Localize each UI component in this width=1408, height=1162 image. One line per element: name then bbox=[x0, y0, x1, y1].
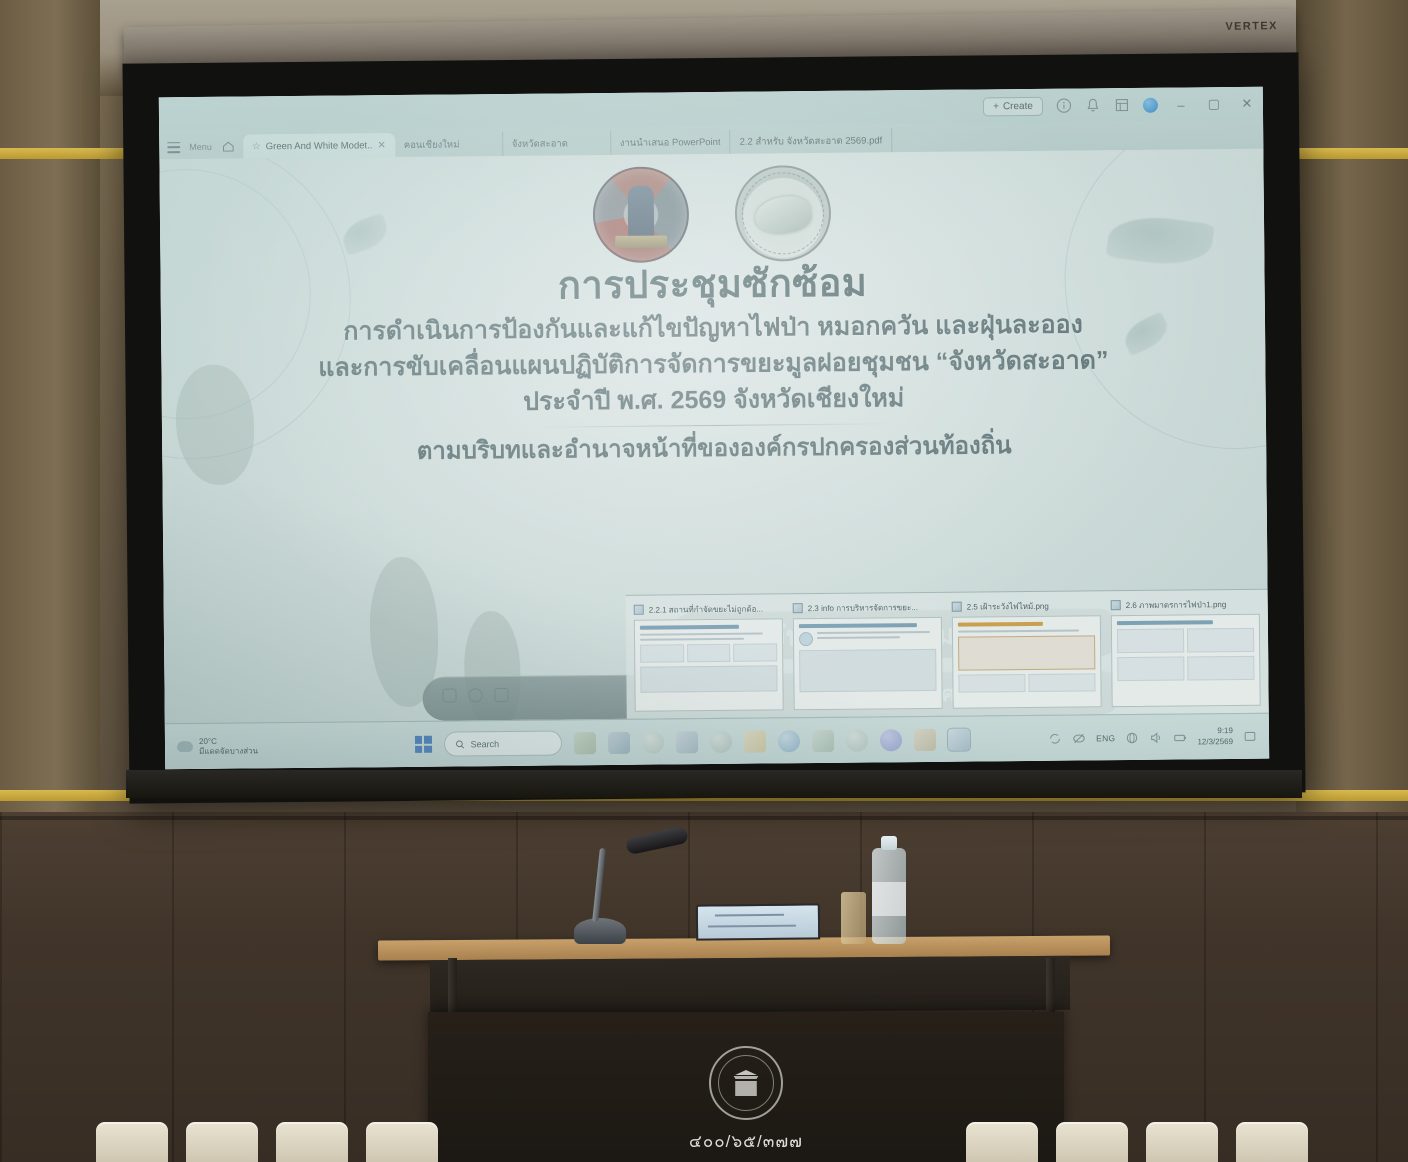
tab-2[interactable]: จังหวัดสะอาด bbox=[503, 131, 611, 156]
battery-icon[interactable] bbox=[1173, 730, 1187, 744]
notification-icon[interactable] bbox=[1243, 729, 1257, 743]
stop-icon[interactable] bbox=[468, 688, 482, 702]
taskbar-clock[interactable]: 9:19 12/3/2569 bbox=[1197, 726, 1233, 747]
grid-icon[interactable] bbox=[494, 688, 508, 702]
maximize-button[interactable]: ▢ bbox=[1204, 96, 1224, 112]
drinking-glass bbox=[841, 892, 866, 944]
create-button[interactable]: + Create bbox=[983, 96, 1043, 116]
chair bbox=[1146, 1122, 1218, 1162]
minimize-button[interactable]: – bbox=[1171, 97, 1191, 112]
file-header: 2.5 เฝ้าระวังไฟไหม้.png bbox=[952, 598, 1101, 613]
plus-icon: + bbox=[993, 101, 999, 112]
weather-desc: มีแดดจัดบางส่วน bbox=[199, 746, 258, 757]
water-bottle bbox=[872, 848, 906, 944]
conference-room: VERTEX + Create – bbox=[0, 0, 1408, 1162]
file-item[interactable]: 2.2.1 สถานที่กำจัดขยะไม่ถูกต้อ... bbox=[634, 601, 784, 718]
taskbar-center: Search bbox=[414, 727, 969, 757]
tab-label: 2.2 สำหรับ จังหวัดสะอาด 2569.pdf bbox=[739, 133, 882, 149]
microphone-base bbox=[574, 918, 626, 944]
start-button[interactable] bbox=[414, 736, 431, 753]
edge-icon[interactable] bbox=[777, 730, 799, 752]
photos-icon[interactable] bbox=[947, 728, 969, 750]
ministry-of-interior-seal-icon bbox=[592, 166, 689, 263]
file-thumbnail bbox=[793, 617, 943, 710]
image-file-icon bbox=[793, 603, 803, 613]
browser-window: + Create – ▢ ✕ bbox=[159, 87, 1269, 770]
chiang-mai-province-seal-icon bbox=[734, 165, 831, 262]
clock-time: 9:19 bbox=[1197, 726, 1233, 737]
table-leg bbox=[1046, 958, 1055, 1014]
slide-divider bbox=[534, 424, 894, 428]
save-icon[interactable] bbox=[442, 688, 456, 702]
chair bbox=[276, 1122, 348, 1162]
titlebar-right-controls: + Create – ▢ ✕ bbox=[983, 87, 1257, 124]
file-name: 2.6 ภาพมาตรการไฟป่า1.png bbox=[1126, 598, 1227, 612]
bell-icon[interactable] bbox=[1085, 97, 1101, 113]
paint-icon[interactable] bbox=[573, 732, 595, 754]
record-icon[interactable] bbox=[845, 729, 867, 751]
chair bbox=[186, 1122, 258, 1162]
file-thumbnail bbox=[952, 615, 1102, 708]
file-header: 2.6 ภาพมาตรการไฟป่า1.png bbox=[1111, 597, 1260, 612]
table-skirt bbox=[430, 956, 1070, 1014]
name-plate bbox=[696, 903, 820, 940]
info-icon[interactable] bbox=[1056, 98, 1072, 114]
chrome-icon[interactable] bbox=[641, 731, 663, 753]
file-thumbnail bbox=[1111, 614, 1261, 707]
slide-context-line: ตามบริบทและอำนาจหน้าที่ขององค์กรปกครองส่… bbox=[162, 427, 1266, 471]
tab-1[interactable]: คอนเชียงใหม่ bbox=[395, 132, 503, 157]
volume-icon[interactable] bbox=[1149, 730, 1163, 744]
projector-screen: + Create – ▢ ✕ bbox=[122, 52, 1305, 803]
tab-label: งานนำเสนอ PowerPoint bbox=[620, 134, 721, 150]
circle-app-icon[interactable] bbox=[879, 729, 901, 751]
screen-bottom-weight-bar bbox=[126, 770, 1302, 798]
slide-text-block: การประชุมซักซ้อม การดำเนินการป้องกันและแ… bbox=[160, 257, 1266, 471]
search-input[interactable]: Search bbox=[443, 730, 561, 756]
chair bbox=[96, 1122, 168, 1162]
pagoda-glyph bbox=[731, 1070, 761, 1096]
acrobat-icon[interactable] bbox=[913, 728, 935, 750]
image-file-icon bbox=[634, 605, 644, 615]
windows-taskbar: 20°C มีแดดจัดบางส่วน Search bbox=[165, 713, 1269, 770]
panel-rail-top bbox=[0, 816, 1408, 820]
excel-icon[interactable] bbox=[811, 729, 833, 751]
file-name: 2.3 info การบริหารจัดการขยะ... bbox=[808, 601, 918, 615]
system-tray: ENG 9:19 12/3/2569 bbox=[969, 726, 1269, 750]
apps-grid-icon[interactable] bbox=[1114, 97, 1130, 113]
cloud-icon bbox=[177, 741, 193, 752]
file-name: 2.2.1 สถานที่กำจัดขยะไม่ถูกต้อ... bbox=[649, 602, 763, 616]
close-icon[interactable]: ✕ bbox=[377, 140, 385, 151]
seal-row bbox=[160, 161, 1265, 268]
tab-label: คอนเชียงใหม่ bbox=[404, 137, 460, 153]
teams-icon[interactable] bbox=[675, 731, 697, 753]
close-button[interactable]: ✕ bbox=[1237, 96, 1257, 112]
table-leg bbox=[448, 958, 457, 1014]
tab-label: จังหวัดสะอาด bbox=[512, 136, 568, 152]
file-item[interactable]: 2.6 ภาพมาตรการไฟป่า1.png bbox=[1111, 597, 1261, 714]
podium-number-label: ๔๐๐/๖๕/๓๗๗ bbox=[689, 1128, 803, 1155]
chair bbox=[1056, 1122, 1128, 1162]
file-explorer-strip: 2.2.1 สถานที่กำจัดขยะไม่ถูกต้อ... bbox=[626, 589, 1269, 719]
sync-icon[interactable] bbox=[1048, 731, 1062, 745]
clock-date: 12/3/2569 bbox=[1197, 737, 1233, 748]
projector-brand-label: VERTEX bbox=[1225, 20, 1278, 33]
no-signal-icon[interactable] bbox=[1072, 731, 1086, 745]
star-icon: ☆ bbox=[252, 141, 261, 152]
file-thumbnail bbox=[634, 618, 784, 711]
network-icon[interactable] bbox=[1125, 730, 1139, 744]
avatar[interactable] bbox=[1143, 97, 1158, 112]
tab-4[interactable]: 2.2 สำหรับ จังหวัดสะอาด 2569.pdf bbox=[730, 128, 892, 154]
left-wall-beam bbox=[0, 0, 100, 812]
tab-3[interactable]: งานนำเสนอ PowerPoint bbox=[611, 130, 731, 155]
create-button-label: Create bbox=[1003, 100, 1033, 111]
search-placeholder: Search bbox=[471, 739, 500, 749]
tab-0[interactable]: ☆ Green And White Modet.. ✕ bbox=[243, 133, 395, 158]
file-item[interactable]: 2.3 info การบริหารจัดการขยะ... bbox=[793, 600, 943, 717]
image-file-icon bbox=[952, 602, 962, 612]
projected-image: + Create – ▢ ✕ bbox=[159, 87, 1269, 770]
right-wall-beam bbox=[1296, 0, 1408, 812]
bottle-label bbox=[872, 882, 906, 916]
language-indicator[interactable]: ENG bbox=[1096, 733, 1115, 743]
file-explorer-icon[interactable] bbox=[607, 731, 629, 753]
menu-label: Menu bbox=[189, 142, 212, 152]
chair bbox=[1236, 1122, 1308, 1162]
weather-widget[interactable]: 20°C มีแดดจัดบางส่วน bbox=[165, 734, 415, 756]
podium-seal-icon bbox=[709, 1046, 783, 1120]
weather-temp: 20°C bbox=[199, 736, 258, 747]
chair bbox=[366, 1122, 438, 1162]
file-header: 2.3 info การบริหารจัดการขยะ... bbox=[793, 600, 942, 615]
image-file-icon bbox=[1111, 600, 1121, 610]
presentation-slide: การประชุมซักซ้อม การดำเนินการป้องกันและแ… bbox=[159, 149, 1268, 724]
tab-label: Green And White Modet.. bbox=[266, 140, 373, 152]
explorer-toolbar bbox=[442, 688, 508, 703]
home-icon[interactable] bbox=[221, 140, 235, 154]
search-icon bbox=[455, 739, 465, 749]
tabstrip-left: Menu bbox=[163, 140, 243, 160]
file-item[interactable]: 2.5 เฝ้าระวังไฟไหม้.png bbox=[952, 598, 1102, 715]
browser-icon[interactable] bbox=[709, 730, 731, 752]
chair bbox=[966, 1122, 1038, 1162]
file-header: 2.2.1 สถานที่กำจัดขยะไม่ถูกต้อ... bbox=[634, 601, 783, 616]
file-name: 2.5 เฝ้าระวังไฟไหม้.png bbox=[967, 599, 1049, 613]
folder-icon[interactable] bbox=[743, 730, 765, 752]
menu-icon[interactable] bbox=[167, 142, 180, 153]
